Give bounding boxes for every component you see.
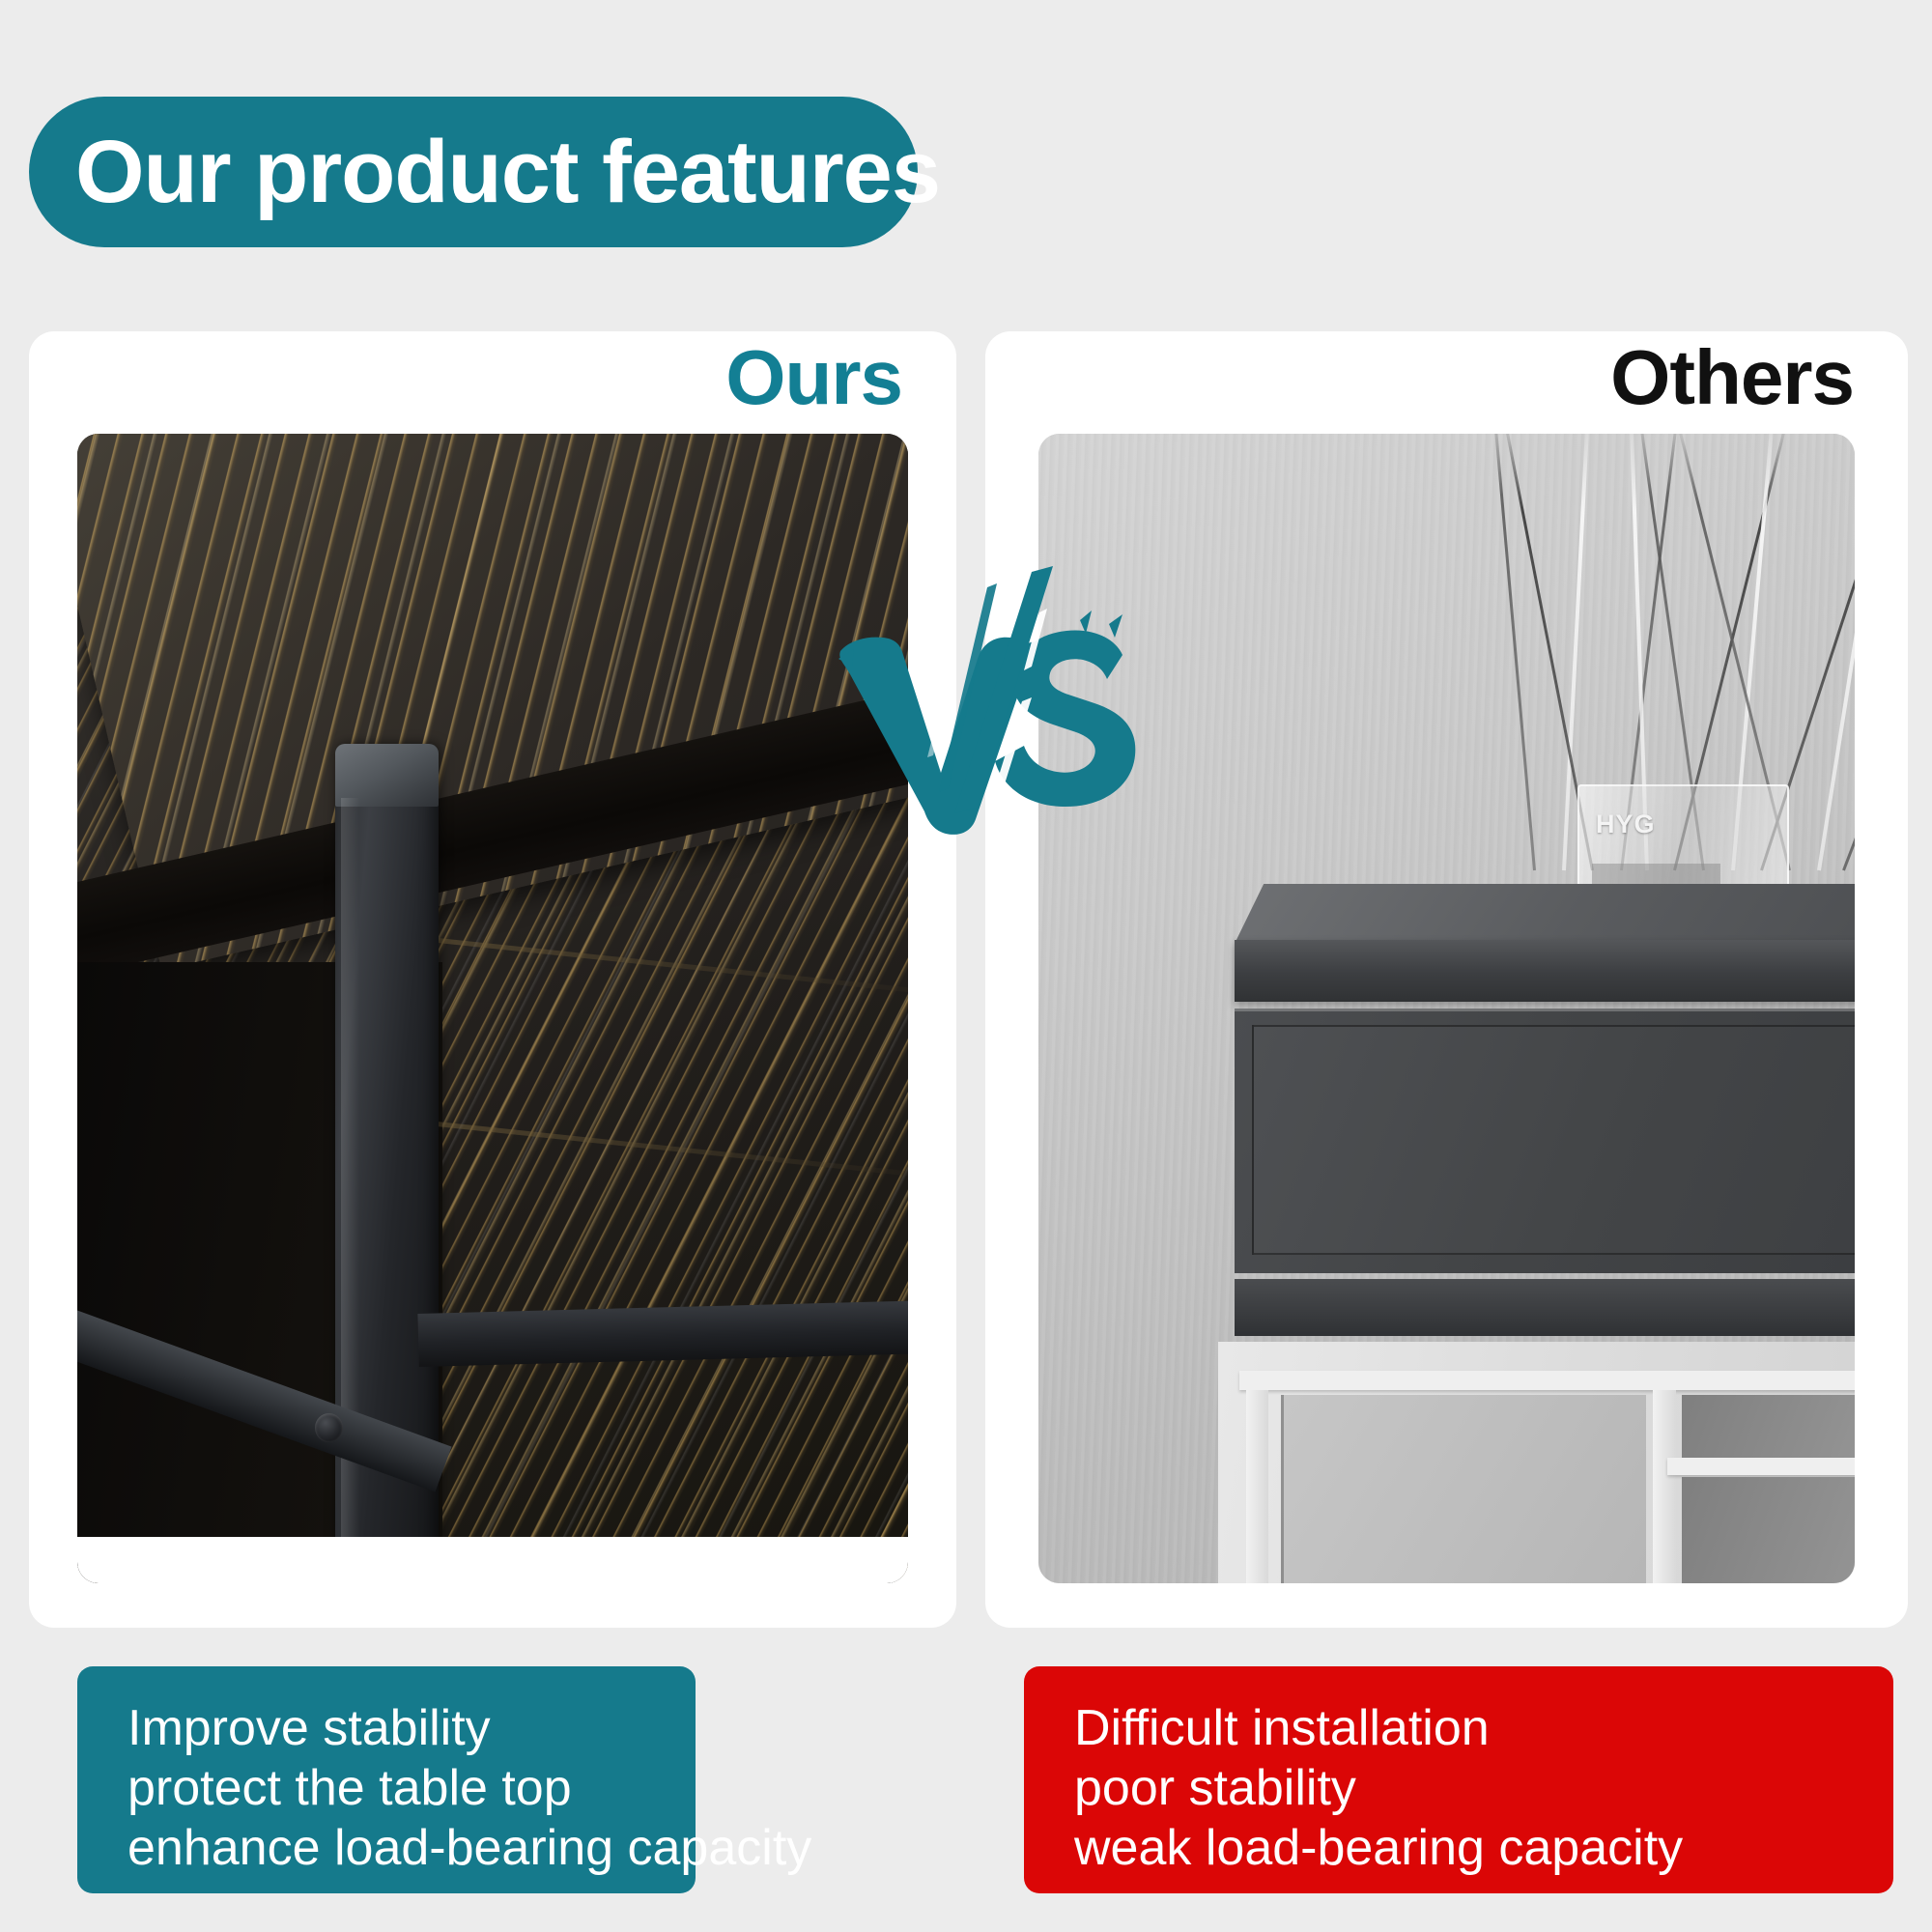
comparison-card-others: Others HYG [985, 331, 1908, 1628]
caption-line: Difficult installation [1074, 1699, 1893, 1759]
shelf-divider-rail [1667, 1458, 1855, 1474]
caption-line: protect the table top [128, 1759, 696, 1819]
vase-brand-text: HYG [1596, 810, 1656, 839]
leg-highlight [341, 798, 359, 1583]
drawer-front-inset [1252, 1025, 1855, 1255]
nightstand-top-slab [1235, 940, 1855, 1002]
comparison-card-ours: Ours [29, 331, 956, 1628]
caption-line: enhance load-bearing capacity [128, 1819, 696, 1879]
page-title: Our product features [29, 128, 940, 216]
caption-box-ours: Improve stability protect the table top … [77, 1666, 696, 1893]
shelf-post-left [1246, 1390, 1268, 1583]
shelf-post-middle [1653, 1390, 1675, 1583]
caption-line: poor stability [1074, 1759, 1893, 1819]
product-photo-ours [77, 434, 908, 1583]
shelf-panel-left [1281, 1395, 1646, 1583]
header-banner: Our product features [29, 97, 918, 247]
card-label-others: Others [1610, 339, 1854, 416]
card-label-ours: Ours [725, 339, 902, 416]
shelf-top-rail [1239, 1371, 1855, 1390]
photo-bottom-fade [77, 1537, 908, 1583]
caption-line: Improve stability [128, 1699, 696, 1759]
vs-badge [833, 566, 1151, 837]
caption-line: weak load-bearing capacity [1074, 1819, 1893, 1879]
nightstand-bottom-rail [1235, 1279, 1855, 1337]
white-shelf-frame [1218, 1342, 1855, 1583]
screw-icon [315, 1413, 343, 1442]
product-photo-others: HYG [1038, 434, 1855, 1583]
shelf-opening-lower [1682, 1477, 1856, 1583]
caption-box-others: Difficult installation poor stability we… [1024, 1666, 1893, 1893]
shelf-opening-upper [1682, 1395, 1856, 1458]
nightstand-drawer [1235, 1009, 1855, 1273]
nightstand-top-face [1235, 884, 1855, 944]
